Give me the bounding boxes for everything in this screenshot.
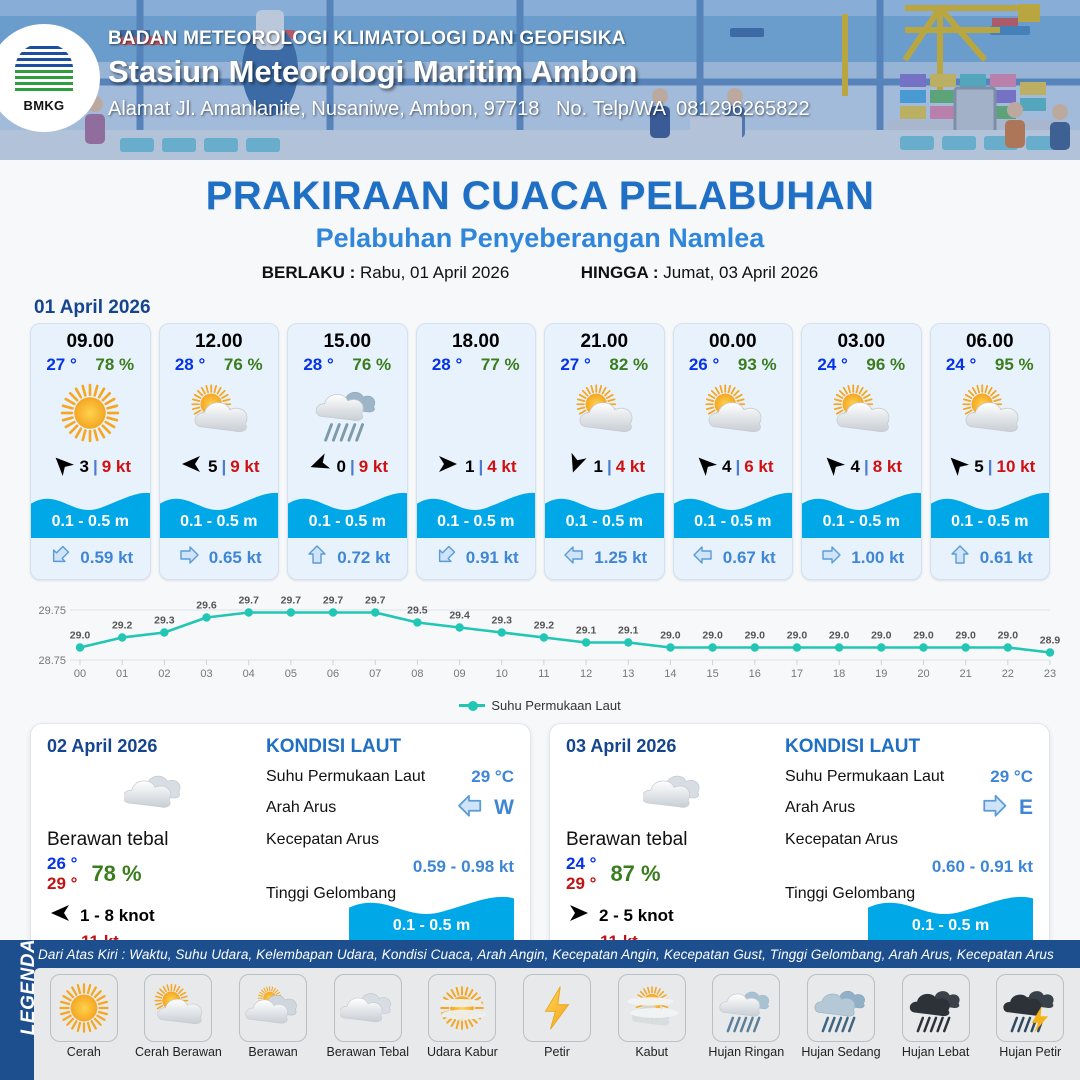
legend-item-label: Cerah Berawan xyxy=(135,1045,222,1059)
daily-temp-min: 26 ° xyxy=(47,854,77,874)
station-contact: Alamat Jl. Amanlanite, Nusaniwe, Ambon, … xyxy=(108,98,810,121)
wind-direction-arrow-icon xyxy=(306,453,332,480)
wind-direction-arrow-icon xyxy=(820,453,846,480)
card-humidity: 96 % xyxy=(866,355,905,375)
daily-wind-range: 1 - 8 knot xyxy=(80,906,155,926)
separator: | xyxy=(735,457,740,477)
card-temperature: 24 ° xyxy=(817,355,847,375)
logo-earth-bars xyxy=(15,70,73,96)
card-wind-speed: 10 kt xyxy=(996,457,1035,477)
svg-text:29.4: 29.4 xyxy=(449,610,470,622)
sea-conditions-title: KONDISI LAUT xyxy=(266,736,514,758)
svg-text:11: 11 xyxy=(538,668,549,680)
card-time: 21.00 xyxy=(545,324,664,355)
svg-text:29.0: 29.0 xyxy=(913,630,934,642)
legend-item-label: Hujan Sedang xyxy=(801,1045,880,1059)
daily-current-direction-arrow-icon xyxy=(454,792,487,825)
wind-direction-arrow-icon xyxy=(563,453,589,480)
daily-temperatures: 24 ° 29 ° 87 % xyxy=(566,854,781,894)
daily-panel[interactable]: 02 April 2026 Berawan tebal 26 ° 29 ° 78… xyxy=(30,723,531,955)
legend-item-label: Hujan Ringan xyxy=(708,1045,784,1059)
svg-text:22: 22 xyxy=(1002,668,1014,680)
svg-text:28.75: 28.75 xyxy=(38,655,66,667)
legend-line-marker-icon xyxy=(459,704,485,707)
card-wind-speed: 9 kt xyxy=(102,457,131,477)
legend-footer: LEGENDA Dari Atas Kiri : Waktu, Suhu Uda… xyxy=(0,940,1080,1080)
card-weather-partly-cloudy-icon xyxy=(674,377,793,449)
daily-date: 03 April 2026 xyxy=(566,736,781,757)
card-temp-humidity: 24 ° 95 % xyxy=(931,355,1050,377)
daily-weather-overcast-icon xyxy=(47,761,262,823)
chart-legend-label: Suhu Permukaan Laut xyxy=(491,698,620,713)
card-wind-scale: 1 xyxy=(465,457,474,477)
legend-moderate-rain-icon xyxy=(807,974,875,1042)
card-wind-speed: 4 kt xyxy=(616,457,645,477)
sst-row: Suhu Permukaan Laut 29 °C xyxy=(785,762,1033,792)
berlaku-label: BERLAKU : xyxy=(262,263,356,282)
card-time: 09.00 xyxy=(31,324,150,355)
card-temperature: 28 ° xyxy=(303,355,333,375)
phone-label: No. Telp/WA xyxy=(556,98,665,120)
daily-left: 03 April 2026 Berawan tebal 24 ° 29 ° 87… xyxy=(566,736,781,944)
legenda-icon-list: Cerah Cerah Berawan Berawan Berawan Teba… xyxy=(34,968,1080,1080)
card-weather-partly-cloudy-icon xyxy=(160,377,279,449)
daily-condition: Berawan tebal xyxy=(47,829,262,851)
card-humidity: 77 % xyxy=(481,355,520,375)
daily-condition: Berawan tebal xyxy=(566,829,781,851)
svg-text:14: 14 xyxy=(664,668,676,680)
card-time: 15.00 xyxy=(288,324,407,355)
sea-conditions-title: KONDISI LAUT xyxy=(785,736,1033,758)
svg-text:16: 16 xyxy=(749,668,761,680)
validity-period: BERLAKU : Rabu, 01 April 2026 HINGGA : J… xyxy=(0,263,1080,283)
daily-forecast-panels: 02 April 2026 Berawan tebal 26 ° 29 ° 78… xyxy=(0,713,1080,955)
card-temp-humidity: 27 ° 82 % xyxy=(545,355,664,377)
svg-text:06: 06 xyxy=(327,668,339,680)
card-current-speed: 0.61 kt xyxy=(980,548,1033,568)
current-speed-label: Kecepatan Arus xyxy=(785,831,898,849)
current-direction-value-group: E xyxy=(978,792,1033,825)
svg-text:20: 20 xyxy=(917,668,929,680)
card-wave-band: 0.1 - 0.5 m xyxy=(160,486,279,538)
berlaku-value: Rabu, 01 April 2026 xyxy=(360,263,509,282)
sst-chart-svg: 29.7528.7529.00029.20129.30229.60329.704… xyxy=(18,592,1062,692)
legend-item: Udara Kabur xyxy=(417,974,509,1059)
svg-text:03: 03 xyxy=(200,668,212,680)
card-time: 03.00 xyxy=(802,324,921,355)
legend-item: Hujan Sedang xyxy=(795,974,887,1059)
card-current: 0.59 kt xyxy=(31,538,150,579)
svg-text:02: 02 xyxy=(158,668,170,680)
current-direction-arrow-icon xyxy=(176,544,202,571)
daily-wind: 1 - 8 knot xyxy=(47,902,262,929)
card-wave-height: 0.1 - 0.5 m xyxy=(931,513,1050,531)
card-temp-humidity: 28 ° 76 % xyxy=(160,355,279,377)
hourly-card[interactable]: 12.00 28 ° 76 % 5 | 9 kt 0.1 - 0.5 m 0.6… xyxy=(159,323,280,580)
legend-item-label: Hujan Petir xyxy=(999,1045,1061,1059)
svg-text:15: 15 xyxy=(706,668,718,680)
card-current-speed: 0.67 kt xyxy=(723,548,776,568)
card-wind-speed: 9 kt xyxy=(230,457,259,477)
current-direction-arrow-icon xyxy=(947,544,973,571)
current-direction-value: E xyxy=(1019,796,1033,820)
daily-sea-conditions: KONDISI LAUT Suhu Permukaan Laut 29 °C A… xyxy=(262,736,514,944)
legend-mostly-cloudy-icon xyxy=(239,974,307,1042)
card-wind: 5 | 9 kt xyxy=(160,449,279,486)
current-direction-arrow-icon xyxy=(690,544,716,571)
card-wind-scale: 5 xyxy=(208,457,217,477)
separator: | xyxy=(221,457,226,477)
card-temp-humidity: 27 ° 78 % xyxy=(31,355,150,377)
card-humidity: 78 % xyxy=(95,355,134,375)
current-direction-row: Arah Arus E xyxy=(785,792,1033,825)
card-humidity: 76 % xyxy=(224,355,263,375)
hourly-forecast-cards: 09.00 27 ° 78 % 3 | 9 kt 0.1 - 0.5 m 0.5… xyxy=(0,323,1080,580)
daily-wave-height: 0.1 - 0.5 m xyxy=(349,917,514,935)
current-direction-arrow-icon xyxy=(818,544,844,571)
card-wind-scale: 5 xyxy=(974,457,983,477)
svg-text:29.3: 29.3 xyxy=(154,615,175,627)
card-temperature: 26 ° xyxy=(689,355,719,375)
card-temp-humidity: 28 ° 76 % xyxy=(288,355,407,377)
current-direction-row: Arah Arus W xyxy=(266,792,514,825)
daily-humidity: 87 % xyxy=(610,861,660,887)
svg-text:29.3: 29.3 xyxy=(492,615,513,627)
daily-wave-height: 0.1 - 0.5 m xyxy=(868,917,1033,935)
svg-text:29.7: 29.7 xyxy=(281,595,302,607)
svg-text:21: 21 xyxy=(960,668,972,680)
card-wave-height: 0.1 - 0.5 m xyxy=(160,513,279,531)
daily-panel[interactable]: 03 April 2026 Berawan tebal 24 ° 29 ° 87… xyxy=(549,723,1050,955)
card-wave-band: 0.1 - 0.5 m xyxy=(674,486,793,538)
hingga-label: HINGGA : xyxy=(581,263,659,282)
card-wind-scale: 0 xyxy=(336,457,345,477)
svg-text:07: 07 xyxy=(369,668,381,680)
daily-humidity: 78 % xyxy=(91,861,141,887)
svg-text:10: 10 xyxy=(496,668,508,680)
svg-text:29.6: 29.6 xyxy=(196,600,217,612)
card-time: 00.00 xyxy=(674,324,793,355)
card-current-speed: 1.25 kt xyxy=(594,548,647,568)
card-wind: 1 | 4 kt xyxy=(417,449,536,486)
hourly-card[interactable]: 15.00 28 ° 76 % 0 | 9 kt 0.1 - 0.5 m 0.7… xyxy=(287,323,408,580)
separator: | xyxy=(478,457,483,477)
legend-item: Hujan Petir xyxy=(984,974,1076,1059)
card-wave-height: 0.1 - 0.5 m xyxy=(802,513,921,531)
card-wind: 5 | 10 kt xyxy=(931,449,1050,486)
card-wind-speed: 8 kt xyxy=(873,457,902,477)
current-speed-value: 0.60 - 0.91 kt xyxy=(785,857,1033,877)
legend-sunny-icon xyxy=(50,974,118,1042)
legenda-sidebar: LEGENDA xyxy=(0,940,34,1080)
svg-text:00: 00 xyxy=(74,668,86,680)
daily-left: 02 April 2026 Berawan tebal 26 ° 29 ° 78… xyxy=(47,736,262,944)
hourly-card[interactable]: 09.00 27 ° 78 % 3 | 9 kt 0.1 - 0.5 m 0.5… xyxy=(30,323,151,580)
current-speed-row: Kecepatan Arus xyxy=(266,825,514,855)
sst-chart: 29.7528.7529.00029.20129.30229.60329.704… xyxy=(18,592,1062,692)
current-direction-value: W xyxy=(494,796,514,820)
current-direction-arrow-icon xyxy=(561,544,587,571)
card-current: 0.61 kt xyxy=(931,538,1050,579)
current-direction-arrow-icon xyxy=(47,544,73,571)
svg-text:17: 17 xyxy=(791,668,803,680)
card-humidity: 95 % xyxy=(995,355,1034,375)
current-direction-value-group: W xyxy=(454,792,514,825)
card-weather-partly-cloudy-icon xyxy=(802,377,921,449)
hourly-card[interactable]: 18.00 28 ° 77 % 1 | 4 kt 0.1 - 0.5 m 0.9… xyxy=(416,323,537,580)
svg-text:08: 08 xyxy=(411,668,423,680)
svg-text:29.2: 29.2 xyxy=(112,620,133,632)
card-wave-band: 0.1 - 0.5 m xyxy=(802,486,921,538)
card-temp-humidity: 24 ° 96 % xyxy=(802,355,921,377)
svg-text:29.0: 29.0 xyxy=(871,630,892,642)
svg-text:04: 04 xyxy=(243,668,255,680)
svg-text:29.0: 29.0 xyxy=(955,630,976,642)
card-wind-speed: 9 kt xyxy=(359,457,388,477)
card-wind-speed: 6 kt xyxy=(744,457,773,477)
legend-item-label: Hujan Lebat xyxy=(902,1045,969,1059)
card-wave-height: 0.1 - 0.5 m xyxy=(31,513,150,531)
hourly-card[interactable]: 21.00 27 ° 82 % 1 | 4 kt 0.1 - 0.5 m 1.2… xyxy=(544,323,665,580)
separator: | xyxy=(864,457,869,477)
daily-wind: 2 - 5 knot xyxy=(566,902,781,929)
card-weather-partly-cloudy-icon xyxy=(931,377,1050,449)
current-speed-label: Kecepatan Arus xyxy=(266,831,379,849)
svg-text:23: 23 xyxy=(1044,668,1056,680)
current-speed-row: Kecepatan Arus xyxy=(785,825,1033,855)
card-wind: 3 | 9 kt xyxy=(31,449,150,486)
card-wave-band: 0.1 - 0.5 m xyxy=(417,486,536,538)
legend-fog-icon xyxy=(618,974,686,1042)
sst-label: Suhu Permukaan Laut xyxy=(785,768,944,786)
bmkg-logo-text: BMKG xyxy=(24,98,65,113)
card-wave-band: 0.1 - 0.5 m xyxy=(545,486,664,538)
svg-text:29.0: 29.0 xyxy=(998,630,1019,642)
daily-sea-conditions: KONDISI LAUT Suhu Permukaan Laut 29 °C A… xyxy=(781,736,1033,944)
legend-light-rain-icon xyxy=(712,974,780,1042)
card-temp-humidity: 26 ° 93 % xyxy=(674,355,793,377)
svg-text:13: 13 xyxy=(622,668,634,680)
svg-text:29.0: 29.0 xyxy=(70,630,91,642)
card-temperature: 24 ° xyxy=(946,355,976,375)
svg-text:18: 18 xyxy=(833,668,845,680)
card-wave-band: 0.1 - 0.5 m xyxy=(931,486,1050,538)
card-wind: 0 | 9 kt xyxy=(288,449,407,486)
current-speed-value: 0.59 - 0.98 kt xyxy=(266,857,514,877)
svg-text:29.75: 29.75 xyxy=(38,605,66,617)
card-current-speed: 0.65 kt xyxy=(209,548,262,568)
weather-infographic: BMKG BADAN METEOROLOGI KLIMATOLOGI DAN G… xyxy=(0,0,1080,1080)
agency-name: BADAN METEOROLOGI KLIMATOLOGI DAN GEOFIS… xyxy=(108,28,810,50)
legend-haze-icon xyxy=(428,974,496,1042)
card-wave-height: 0.1 - 0.5 m xyxy=(545,513,664,531)
svg-text:12: 12 xyxy=(580,668,592,680)
legend-item-label: Udara Kabur xyxy=(427,1045,498,1059)
legend-item: Hujan Ringan xyxy=(700,974,792,1059)
header-text-block: BADAN METEOROLOGI KLIMATOLOGI DAN GEOFIS… xyxy=(108,28,810,121)
daily-temperatures: 26 ° 29 ° 78 % xyxy=(47,854,262,894)
legend-item-label: Berawan xyxy=(248,1045,297,1059)
hourly-date-label: 01 April 2026 xyxy=(34,297,1080,319)
card-current: 0.65 kt xyxy=(160,538,279,579)
card-wave-height: 0.1 - 0.5 m xyxy=(417,513,536,531)
card-current-speed: 0.91 kt xyxy=(466,548,519,568)
daily-wind-direction-arrow-icon xyxy=(47,902,73,929)
card-current-speed: 0.72 kt xyxy=(337,548,390,568)
page-title: PRAKIRAAN CUACA PELABUHAN xyxy=(0,174,1080,219)
card-wind-scale: 4 xyxy=(850,457,859,477)
sst-value: 29 °C xyxy=(471,767,514,787)
card-weather-rain-icon xyxy=(288,377,407,449)
svg-text:09: 09 xyxy=(453,668,465,680)
wind-direction-arrow-icon xyxy=(178,453,204,480)
current-direction-label: Arah Arus xyxy=(266,799,336,817)
card-current: 0.91 kt xyxy=(417,538,536,579)
svg-text:05: 05 xyxy=(285,668,297,680)
card-temperature: 28 ° xyxy=(175,355,205,375)
card-wave-height: 0.1 - 0.5 m xyxy=(288,513,407,531)
svg-text:01: 01 xyxy=(116,668,128,680)
separator: | xyxy=(350,457,355,477)
card-current-speed: 1.00 kt xyxy=(851,548,904,568)
card-current: 1.00 kt xyxy=(802,538,921,579)
port-name: Pelabuhan Penyeberangan Namlea xyxy=(0,223,1080,254)
page-title-block: PRAKIRAAN CUACA PELABUHAN Pelabuhan Peny… xyxy=(0,160,1080,283)
daily-wind-range: 2 - 5 knot xyxy=(599,906,674,926)
hourly-card[interactable]: 06.00 24 ° 95 % 5 | 10 kt 0.1 - 0.5 m 0.… xyxy=(930,323,1051,580)
hourly-card[interactable]: 00.00 26 ° 93 % 4 | 6 kt 0.1 - 0.5 m 0.6… xyxy=(673,323,794,580)
svg-text:29.7: 29.7 xyxy=(238,595,259,607)
legend-overcast-icon xyxy=(334,974,402,1042)
daily-temp-max: 29 ° xyxy=(566,874,596,894)
svg-text:29.0: 29.0 xyxy=(702,630,723,642)
station-name: Stasiun Meteorologi Maritim Ambon xyxy=(108,54,810,90)
station-address: Alamat Jl. Amanlanite, Nusaniwe, Ambon, … xyxy=(108,98,539,120)
card-wind-scale: 1 xyxy=(593,457,602,477)
card-weather-partly-cloudy-icon xyxy=(545,377,664,449)
svg-text:29.2: 29.2 xyxy=(534,620,555,632)
card-wind: 4 | 6 kt xyxy=(674,449,793,486)
card-humidity: 93 % xyxy=(738,355,777,375)
logo-sky-arc xyxy=(15,44,73,69)
card-wind-scale: 3 xyxy=(79,457,88,477)
legend-item-label: Cerah xyxy=(67,1045,101,1059)
card-temp-humidity: 28 ° 77 % xyxy=(417,355,536,377)
legend-item: Cerah xyxy=(38,974,130,1059)
wind-direction-arrow-icon xyxy=(435,453,461,480)
card-temperature: 27 ° xyxy=(46,355,76,375)
daily-temp-min: 24 ° xyxy=(566,854,596,874)
legenda-title: LEGENDA xyxy=(18,932,40,1042)
legend-item: Berawan xyxy=(227,974,319,1059)
hourly-card[interactable]: 03.00 24 ° 96 % 4 | 8 kt 0.1 - 0.5 m 1.0… xyxy=(801,323,922,580)
bmkg-logo-mark xyxy=(15,44,73,96)
legend-item: Kabut xyxy=(606,974,698,1059)
sst-value: 29 °C xyxy=(990,767,1033,787)
sst-label: Suhu Permukaan Laut xyxy=(266,768,425,786)
legend-item-label: Petir xyxy=(544,1045,570,1059)
wind-direction-arrow-icon xyxy=(692,453,718,480)
svg-text:28.9: 28.9 xyxy=(1040,635,1061,647)
card-wind: 4 | 8 kt xyxy=(802,449,921,486)
card-current: 0.72 kt xyxy=(288,538,407,579)
daily-temp-max: 29 ° xyxy=(47,874,77,894)
svg-text:19: 19 xyxy=(875,668,887,680)
svg-text:29.7: 29.7 xyxy=(365,595,386,607)
svg-text:29.1: 29.1 xyxy=(618,625,639,637)
sst-row: Suhu Permukaan Laut 29 °C xyxy=(266,762,514,792)
card-time: 06.00 xyxy=(931,324,1050,355)
legend-item-label: Berawan Tebal xyxy=(327,1045,409,1059)
separator: | xyxy=(988,457,993,477)
current-direction-label: Arah Arus xyxy=(785,799,855,817)
card-temperature: 28 ° xyxy=(432,355,462,375)
legend-heavy-rain-icon xyxy=(902,974,970,1042)
card-humidity: 76 % xyxy=(352,355,391,375)
wind-direction-arrow-icon xyxy=(49,453,75,480)
card-wind-speed: 4 kt xyxy=(487,457,516,477)
card-wave-height: 0.1 - 0.5 m xyxy=(674,513,793,531)
legend-item-label: Kabut xyxy=(635,1045,668,1059)
daily-wave-band: 0.1 - 0.5 m xyxy=(868,890,1033,942)
chart-legend: Suhu Permukaan Laut xyxy=(0,698,1080,713)
card-wave-band: 0.1 - 0.5 m xyxy=(288,486,407,538)
legenda-content: Dari Atas Kiri : Waktu, Suhu Udara, Kele… xyxy=(34,940,1080,1080)
daily-wave-band: 0.1 - 0.5 m xyxy=(349,890,514,942)
separator: | xyxy=(607,457,612,477)
daily-wind-direction-arrow-icon xyxy=(566,902,592,929)
svg-text:29.1: 29.1 xyxy=(576,625,597,637)
legend-item: Berawan Tebal xyxy=(322,974,414,1059)
card-weather-cloudy-icon xyxy=(417,377,536,449)
svg-text:29.0: 29.0 xyxy=(787,630,808,642)
card-temperature: 27 ° xyxy=(560,355,590,375)
legend-thunderstorm-rain-icon xyxy=(996,974,1064,1042)
daily-date: 02 April 2026 xyxy=(47,736,262,757)
legenda-note: Dari Atas Kiri : Waktu, Suhu Udara, Kele… xyxy=(34,940,1080,968)
card-humidity: 82 % xyxy=(609,355,648,375)
svg-text:29.0: 29.0 xyxy=(660,630,681,642)
card-weather-sunny-icon xyxy=(31,377,150,449)
legend-item: Petir xyxy=(511,974,603,1059)
card-wind: 1 | 4 kt xyxy=(545,449,664,486)
legend-item: Hujan Lebat xyxy=(890,974,982,1059)
card-time: 18.00 xyxy=(417,324,536,355)
wind-direction-arrow-icon xyxy=(944,453,970,480)
card-time: 12.00 xyxy=(160,324,279,355)
hingga-value: Jumat, 03 April 2026 xyxy=(663,263,818,282)
current-direction-arrow-icon xyxy=(304,544,330,571)
svg-text:29.5: 29.5 xyxy=(407,605,428,617)
svg-text:29.7: 29.7 xyxy=(323,595,344,607)
card-current: 0.67 kt xyxy=(674,538,793,579)
legend-lightning-icon xyxy=(523,974,591,1042)
separator: | xyxy=(93,457,98,477)
daily-weather-overcast-icon xyxy=(566,761,781,823)
svg-text:29.0: 29.0 xyxy=(745,630,766,642)
card-wind-scale: 4 xyxy=(722,457,731,477)
legend-partly-cloudy-icon xyxy=(144,974,212,1042)
legend-item: Cerah Berawan xyxy=(133,974,225,1059)
card-wave-band: 0.1 - 0.5 m xyxy=(31,486,150,538)
svg-text:29.0: 29.0 xyxy=(829,630,850,642)
daily-current-direction-arrow-icon xyxy=(978,792,1011,825)
phone-number: 081296265822 xyxy=(676,98,809,120)
card-current-speed: 0.59 kt xyxy=(80,548,133,568)
page-header: BMKG BADAN METEOROLOGI KLIMATOLOGI DAN G… xyxy=(0,0,1080,160)
current-direction-arrow-icon xyxy=(433,544,459,571)
card-current: 1.25 kt xyxy=(545,538,664,579)
